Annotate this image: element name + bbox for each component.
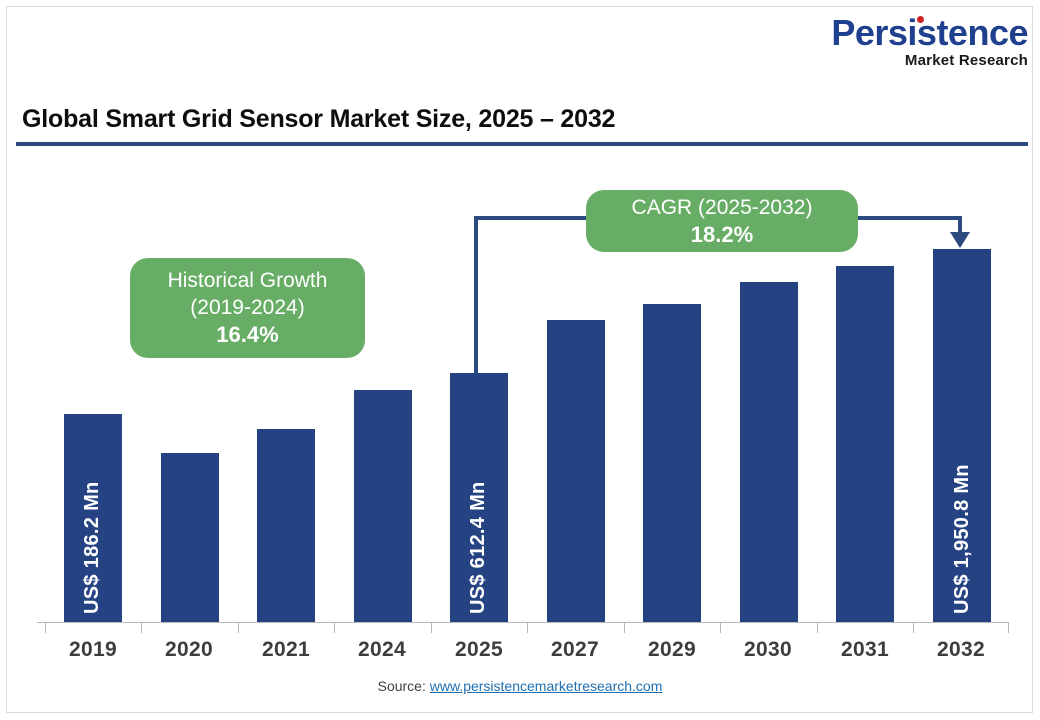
- x-axis-label-2029: 2029: [624, 638, 720, 662]
- x-axis-tick: [334, 622, 335, 633]
- x-axis-label-2025: 2025: [431, 638, 527, 662]
- source-line: Source: www.persistencemarketresearch.co…: [0, 678, 1040, 694]
- x-axis-label-2031: 2031: [817, 638, 913, 662]
- x-axis-label-2024: 2024: [334, 638, 430, 662]
- x-axis-tick: [431, 622, 432, 633]
- x-axis-line: [37, 622, 1008, 623]
- cagr-connector-arrowhead: [950, 232, 970, 248]
- x-axis-label-2030: 2030: [720, 638, 816, 662]
- x-axis-tick: [141, 622, 142, 633]
- cagr-connector-horizontal-right: [850, 216, 962, 220]
- x-axis-tick: [624, 622, 625, 633]
- x-axis-tick: [1008, 622, 1009, 633]
- x-axis-label-2027: 2027: [527, 638, 623, 662]
- x-axis-tick: [913, 622, 914, 633]
- bar-2025: US$ 612.4 Mn: [450, 373, 508, 622]
- x-axis-label-2020: 2020: [141, 638, 237, 662]
- bar-2020: [161, 453, 219, 622]
- bar-2030: [740, 282, 798, 622]
- cagr-connector-horizontal-left: [474, 216, 599, 220]
- source-link[interactable]: www.persistencemarketresearch.com: [430, 678, 663, 694]
- bar-2031: [836, 266, 894, 622]
- historical-growth-callout: Historical Growth (2019-2024) 16.4%: [130, 258, 365, 358]
- bar-2027: [547, 320, 605, 622]
- bar-2019: US$ 186.2 Mn: [64, 414, 122, 622]
- x-axis-label-2021: 2021: [238, 638, 334, 662]
- historical-callout-value: 16.4%: [216, 321, 278, 349]
- historical-callout-line2: (2019-2024): [190, 294, 304, 321]
- bar-value-label-2019: US$ 186.2 Mn: [81, 481, 104, 614]
- bar-chart-plot: US$ 186.2 Mn US$ 612.4 Mn US$ 1,950.8 Mn…: [0, 0, 1040, 720]
- x-axis-label-2032: 2032: [913, 638, 1009, 662]
- cagr-connector-vertical-left: [474, 216, 478, 376]
- x-axis-tick: [238, 622, 239, 633]
- x-axis-tick: [45, 622, 46, 633]
- cagr-callout-value: 18.2%: [691, 221, 753, 249]
- bar-value-label-2032: US$ 1,950.8 Mn: [951, 464, 974, 614]
- source-prefix: Source:: [378, 678, 430, 694]
- x-axis-tick: [527, 622, 528, 633]
- bar-2024: [354, 390, 412, 622]
- bar-2021: [257, 429, 315, 622]
- x-axis-tick: [720, 622, 721, 633]
- bar-2029: [643, 304, 701, 622]
- cagr-callout: CAGR (2025-2032) 18.2%: [586, 190, 858, 252]
- historical-callout-line1: Historical Growth: [168, 267, 328, 294]
- x-axis-label-2019: 2019: [45, 638, 141, 662]
- cagr-callout-line1: CAGR (2025-2032): [632, 194, 813, 221]
- x-axis-tick: [817, 622, 818, 633]
- bar-value-label-2025: US$ 612.4 Mn: [467, 481, 490, 614]
- bar-2032: US$ 1,950.8 Mn: [933, 249, 991, 622]
- chart-canvas: Persistence Market Research Global Smart…: [0, 0, 1040, 720]
